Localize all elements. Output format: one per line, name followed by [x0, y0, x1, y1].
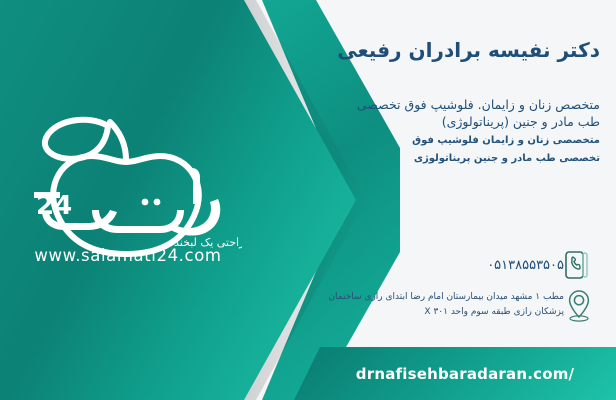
footer-website-url[interactable]: drnafisehbaradaran.com/ [336, 365, 574, 383]
phone-row[interactable]: ۰۵۱۳۸۵۵۳۵۰۵ [487, 250, 600, 280]
svg-text:24: 24 [36, 191, 72, 221]
map-pin-icon [564, 288, 594, 322]
footer-bar[interactable]: drnafisehbaradaran.com/ [294, 347, 616, 400]
specialty-block: متخصص زنان و زایمان. فلوشیپ فوق تخصصی طب… [300, 96, 600, 166]
specialty-line-2: طب مادر و جنین (پریناتولوژی) [300, 113, 600, 130]
address-row: مطب ۱ مشهد میدان بیمارستان امام رضا ابتد… [328, 288, 600, 322]
specialty-sub-line-2: تخصصی طب مادر و جنین پریناتولوژی [300, 151, 600, 166]
doctor-name: دکتر نفیسه برادران رفیعی [270, 38, 600, 62]
specialty-sub-line-1: متخصصی زنان و زایمان فلوشیپ فوق [300, 133, 600, 148]
card-content: دکتر نفیسه برادران رفیعی متخصص زنان و زا… [356, 0, 616, 400]
specialty-line-1: متخصص زنان و زایمان. فلوشیپ فوق تخصصی [300, 96, 600, 113]
phone-number[interactable]: ۰۵۱۳۸۵۵۳۵۰۵ [487, 258, 564, 273]
address-text: مطب ۱ مشهد میدان بیمارستان امام رضا ابتد… [328, 290, 564, 320]
address-line-2: پزشکان رازی طبقه سوم واحد ۳۰۱ X [328, 305, 564, 320]
logo-website-url: www.salamati24.com [14, 246, 242, 265]
address-line-1: مطب ۱ مشهد میدان بیمارستان امام رضا ابتد… [328, 292, 564, 302]
phone-book-icon [564, 250, 590, 280]
business-card: 24 با راحتی یک لبخند www.salamati24.com … [0, 0, 616, 400]
